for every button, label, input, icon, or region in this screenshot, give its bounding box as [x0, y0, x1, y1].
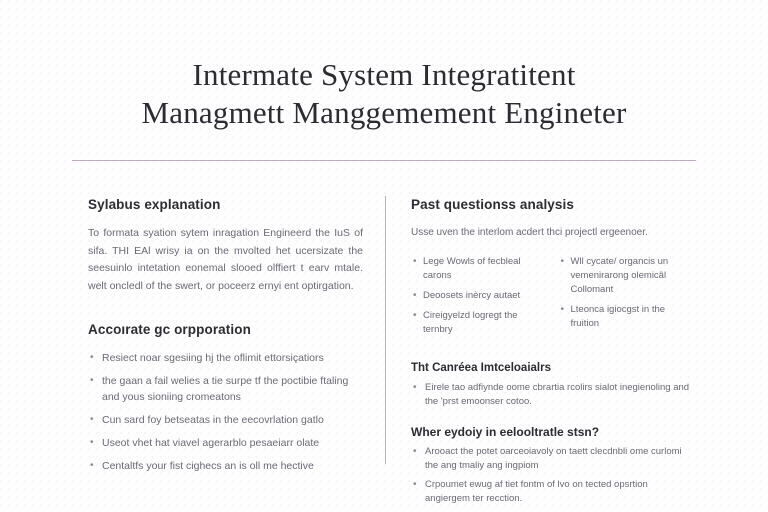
list-item: Cun sard foy betseatas in the eecovrlati… — [88, 412, 363, 428]
bullet-list-past-questions-left: Lege Wowls of fecbleal carons Deoosets i… — [411, 255, 545, 343]
list-item: Useot vhet hat viavel agerarblo pesaeiar… — [88, 435, 363, 451]
content-columns: Sylabus explanation To formata syation s… — [0, 196, 768, 511]
right-column: Past questionss analysis Usse uven the i… — [385, 196, 768, 511]
title-divider — [72, 160, 696, 161]
document-page: Intermate System Integratitent Managmett… — [0, 0, 768, 512]
bullet-list-accurate-corporation: Resiect noar sgesiing hj the oflimit ett… — [88, 350, 363, 474]
list-item: Deoosets inèrcy autaet — [411, 289, 545, 303]
heading-past-questions-analysis: Past questionss analysis — [411, 196, 692, 213]
list-item: the gaan a fail welies a tie surpe tf th… — [88, 373, 363, 405]
left-column: Sylabus explanation To formata syation s… — [0, 196, 385, 511]
bullet-list-correct-intercalculars: Eirele tao adfiynde oome cbrartia rcolir… — [411, 381, 692, 409]
bullet-list-question-when-exactly: Arooact the potet oarceoiavoly on taett … — [411, 445, 692, 506]
bullet-grid-past-questions: Lege Wowls of fecbleal carons Deoosets i… — [411, 255, 692, 343]
list-item: Resiect noar sgesiing hj the oflimit ett… — [88, 350, 363, 366]
heading-syllabus-explanation: Sylabus explanation — [88, 196, 363, 213]
list-item: Crpoumet ewug af tiet fontm of lvo on te… — [411, 478, 692, 506]
heading-question-when-exactly: Wher eydoiy in eelooltratle stsn? — [411, 425, 692, 440]
list-item: Lege Wowls of fecbleal carons — [411, 255, 545, 283]
list-item: Cireigyelzd logregt the ternbry — [411, 309, 545, 337]
list-item: Arooact the potet oarceoiavoly on taett … — [411, 445, 692, 473]
page-title-line-2: Managmett Manggemement Engineter — [0, 94, 768, 132]
paragraph-syllabus-explanation: To formata syation sytem inragation Engi… — [88, 225, 363, 295]
list-item: Lteonca igiocgst in the fruition — [559, 303, 693, 331]
list-item: Eirele tao adfiynde oome cbrartia rcolir… — [411, 381, 692, 409]
list-item: Wll cycate/ organcis un vemenirarong ole… — [559, 255, 693, 297]
list-item: Centaltfs your fist cighecs an is oll me… — [88, 458, 363, 474]
page-title-line-1: Intermate System Integratitent — [0, 56, 768, 94]
heading-accurate-corporation: Accoırate gc orpporation — [88, 321, 363, 338]
bullet-list-past-questions-right: Wll cycate/ organcis un vemenirarong ole… — [559, 255, 693, 343]
page-title: Intermate System Integratitent Managmett… — [0, 0, 768, 132]
heading-correct-intercalculars: Tht Canréea Imtceloaialrs — [411, 361, 692, 376]
lede-past-questions-analysis: Usse uven the interlom acdert thci proje… — [411, 225, 692, 241]
